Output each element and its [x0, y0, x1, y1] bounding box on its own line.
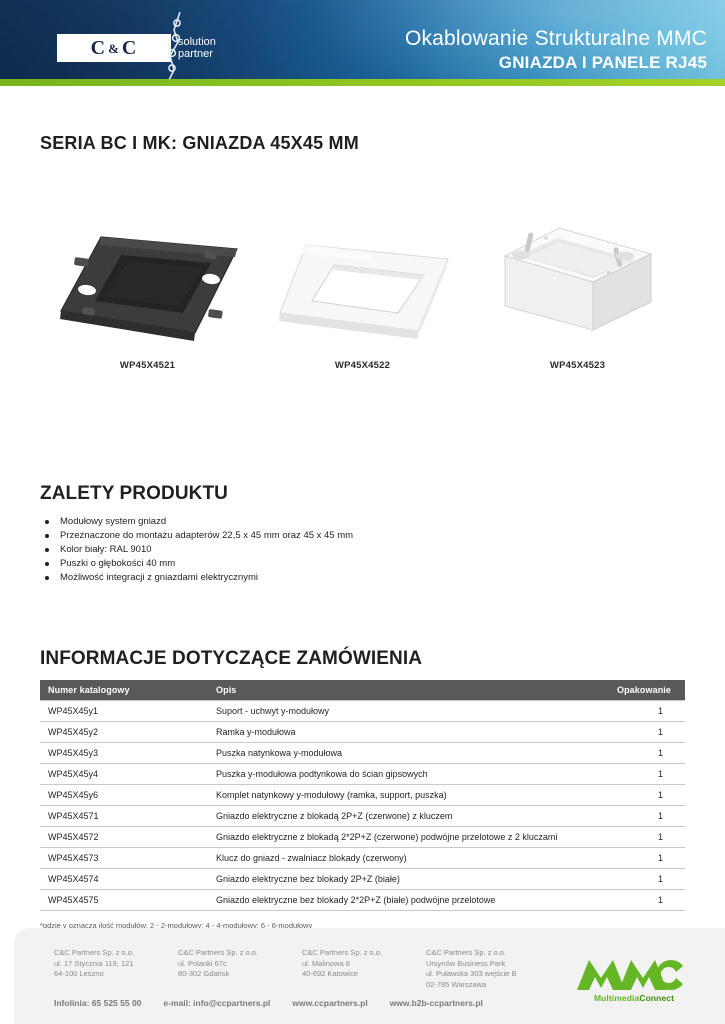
white-surface-mount-box-image: [478, 210, 678, 360]
column-header-description: Opis: [208, 680, 575, 701]
advantage-item: Puszki o głębokości 40 mm: [40, 557, 660, 571]
table-row: WP45X4575 Gniazdo elektryczne bez blokad…: [40, 890, 685, 911]
mmc-tagline-connect: Connect: [639, 993, 674, 1003]
logo-wordmark: C&C: [91, 37, 138, 60]
product-gallery: WP45X4521 WP45X4522: [40, 210, 685, 385]
cell-package: 1: [575, 890, 685, 911]
logo-letter-c2: C: [122, 37, 137, 59]
product-item: WP45X4523: [470, 210, 685, 385]
address-line: C&C Partners Sp. z o.o.: [54, 948, 178, 959]
address-line: ul. Polanki 67c: [178, 959, 302, 970]
product-code: WP45X4522: [335, 360, 390, 371]
cell-package: 1: [575, 722, 685, 743]
cell-package: 1: [575, 701, 685, 722]
logo-ampersand: &: [106, 41, 122, 56]
cell-package: 1: [575, 785, 685, 806]
address-line: 40-692 Katowice: [302, 969, 426, 980]
cell-catalog: WP45X4572: [40, 827, 208, 848]
logo-tagline-line-2: partner: [178, 48, 216, 60]
advantage-text: Puszki o głębokości 40 mm: [60, 558, 175, 569]
cell-catalog: WP45X45y4: [40, 764, 208, 785]
cell-catalog: WP45X4574: [40, 869, 208, 890]
logo-tagline-line-1: solution: [178, 36, 216, 48]
mmc-tagline: MultimediaConnect: [575, 993, 693, 1003]
cell-description: Ramka y-modułowa: [208, 722, 575, 743]
white-modular-frame-image: [263, 210, 463, 360]
address-line: ul. 17 Stycznia 119, 121: [54, 959, 178, 970]
advantage-item: Przeznaczone do montażu adapterów 22,5 x…: [40, 529, 660, 543]
address-line: ul. Malinowa 8: [302, 959, 426, 970]
advantages-list: Modułowy system gniazd Przeznaczone do m…: [40, 515, 660, 585]
table-row: WP45X4571 Gniazdo elektryczne z blokadą …: [40, 806, 685, 827]
ordering-heading: INFORMACJE DOTYCZĄCE ZAMÓWIENIA: [40, 648, 685, 670]
address-line: C&C Partners Sp. z o.o.: [302, 948, 426, 959]
address-line: 02-785 Warszawa: [426, 980, 591, 991]
header-title-group: Okablowanie Strukturalne MMC GNIAZDA I P…: [405, 26, 707, 73]
product-item: WP45X4522: [255, 210, 470, 385]
table-header-row: Numer katalogowy Opis Opakowanie: [40, 680, 685, 701]
cell-description: Puszka y-modułowa podtynkowa do ścian gi…: [208, 764, 575, 785]
advantage-item: Modułowy system gniazd: [40, 515, 660, 529]
page-header: C&C solution partner Okablowanie Struktu…: [0, 0, 725, 79]
table-header: Numer katalogowy Opis Opakowanie: [40, 680, 685, 701]
table-row: WP45X4572 Gniazdo elektryczne z blokadą …: [40, 827, 685, 848]
address-line: 80-302 Gdańsk: [178, 969, 302, 980]
mounting-support-frame-black-image: [48, 210, 248, 360]
mmc-wordmark-icon: [575, 958, 687, 992]
mmc-logo: MultimediaConnect: [575, 958, 693, 1003]
cell-description: Gniazdo elektryczne z blokadą 2P+Z (czer…: [208, 806, 575, 827]
bullet-icon: [45, 534, 49, 538]
bullet-icon: [45, 548, 49, 552]
cell-catalog: WP45X4575: [40, 890, 208, 911]
footer-address-columns: C&C Partners Sp. z o.o. ul. 17 Stycznia …: [54, 948, 599, 990]
cell-package: 1: [575, 848, 685, 869]
header-accent-bar: [0, 79, 725, 86]
table-row: WP45X45y4 Puszka y-modułowa podtynkowa d…: [40, 764, 685, 785]
website-link-b2b[interactable]: www.b2b-ccpartners.pl: [390, 998, 483, 1008]
cell-description: Klucz do gniazd - zwalniacz blokady (cze…: [208, 848, 575, 869]
cell-catalog: WP45X4571: [40, 806, 208, 827]
cell-package: 1: [575, 764, 685, 785]
advantage-text: Modułowy system gniazd: [60, 516, 166, 527]
advantage-text: Kolor biały: RAL 9010: [60, 544, 152, 555]
header-title-secondary: GNIAZDA I PANELE RJ45: [405, 52, 707, 73]
product-item: WP45X4521: [40, 210, 255, 385]
bullet-icon: [45, 562, 49, 566]
advantage-text: Możliwość integracji z gniazdami elektry…: [60, 572, 258, 583]
advantage-item: Możliwość integracji z gniazdami elektry…: [40, 571, 660, 585]
footer-address-leszno: C&C Partners Sp. z o.o. ul. 17 Stycznia …: [54, 948, 178, 990]
cell-description: Gniazdo elektryczne bez blokady 2*2P+Z (…: [208, 890, 575, 911]
column-header-package: Opakowanie: [575, 680, 685, 701]
cell-catalog: WP45X45y1: [40, 701, 208, 722]
header-title-primary: Okablowanie Strukturalne MMC: [405, 26, 707, 51]
page-footer: C&C Partners Sp. z o.o. ul. 17 Stycznia …: [14, 928, 725, 1024]
cc-partners-logo: C&C: [57, 34, 171, 62]
advantages-section: ZALETY PRODUKTU Modułowy system gniazd P…: [40, 483, 660, 585]
table-row: WP45X45y1 Suport - uchwyt y-modułowy 1: [40, 701, 685, 722]
bullet-icon: [45, 576, 49, 580]
table-row: WP45X45y3 Puszka natynkowa y-modułowa 1: [40, 743, 685, 764]
bullet-icon: [45, 520, 49, 524]
cell-catalog: WP45X4573: [40, 848, 208, 869]
cell-package: 1: [575, 827, 685, 848]
address-line: C&C Partners Sp. z o.o.: [426, 948, 591, 959]
cell-catalog: WP45X45y6: [40, 785, 208, 806]
advantage-text: Przeznaczone do montażu adapterów 22,5 x…: [60, 530, 353, 541]
mmc-tagline-multimedia: Multimedia: [594, 993, 639, 1003]
cell-package: 1: [575, 743, 685, 764]
table-row: WP45X4574 Gniazdo elektryczne bez blokad…: [40, 869, 685, 890]
ordering-table: Numer katalogowy Opis Opakowanie WP45X45…: [40, 680, 685, 911]
website-link-primary[interactable]: www.ccpartners.pl: [292, 998, 367, 1008]
column-header-catalog: Numer katalogowy: [40, 680, 208, 701]
table-row: WP45X4573 Klucz do gniazd - zwalniacz bl…: [40, 848, 685, 869]
logo-letter-c1: C: [91, 37, 106, 59]
table-row: WP45X45y2 Ramka y-modułowa 1: [40, 722, 685, 743]
email-link[interactable]: e-mail: info@ccpartners.pl: [163, 998, 270, 1008]
cell-description: Gniazdo elektryczne z blokadą 2*2P+Z (cz…: [208, 827, 575, 848]
cell-description: Gniazdo elektryczne bez blokady 2P+Z (bi…: [208, 869, 575, 890]
ordering-section: INFORMACJE DOTYCZĄCE ZAMÓWIENIA Numer ka…: [40, 648, 685, 930]
table-row: WP45X45y6 Komplet natynkowy y-modułowy (…: [40, 785, 685, 806]
advantages-heading: ZALETY PRODUKTU: [40, 483, 660, 505]
cell-description: Komplet natynkowy y-modułowy (ramka, sup…: [208, 785, 575, 806]
address-line: C&C Partners Sp. z o.o.: [178, 948, 302, 959]
footer-contact-bar: Infolinia: 65 525 55 00 e-mail: info@ccp…: [54, 998, 483, 1008]
table-body: WP45X45y1 Suport - uchwyt y-modułowy 1 W…: [40, 701, 685, 911]
address-line: 64-100 Leszno: [54, 969, 178, 980]
cell-package: 1: [575, 806, 685, 827]
product-code: WP45X4521: [120, 360, 175, 371]
hotline-text: Infolinia: 65 525 55 00: [54, 998, 141, 1008]
cell-description: Puszka natynkowa y-modułowa: [208, 743, 575, 764]
logo-tagline: solution partner: [178, 36, 216, 60]
cell-description: Suport - uchwyt y-modułowy: [208, 701, 575, 722]
cell-catalog: WP45X45y2: [40, 722, 208, 743]
footer-address-katowice: C&C Partners Sp. z o.o. ul. Malinowa 8 4…: [302, 948, 426, 990]
footer-address-gdansk: C&C Partners Sp. z o.o. ul. Polanki 67c …: [178, 948, 302, 990]
cell-package: 1: [575, 869, 685, 890]
footer-address-warszawa: C&C Partners Sp. z o.o. Ursynów Business…: [426, 948, 591, 990]
cell-catalog: WP45X45y3: [40, 743, 208, 764]
product-code: WP45X4523: [550, 360, 605, 371]
address-line: ul. Puławska 303 wejście B: [426, 969, 591, 980]
advantage-item: Kolor biały: RAL 9010: [40, 543, 660, 557]
page-title: SERIA BC I MK: GNIAZDA 45X45 MM: [40, 133, 359, 154]
address-line: Ursynów Business Park: [426, 959, 591, 970]
